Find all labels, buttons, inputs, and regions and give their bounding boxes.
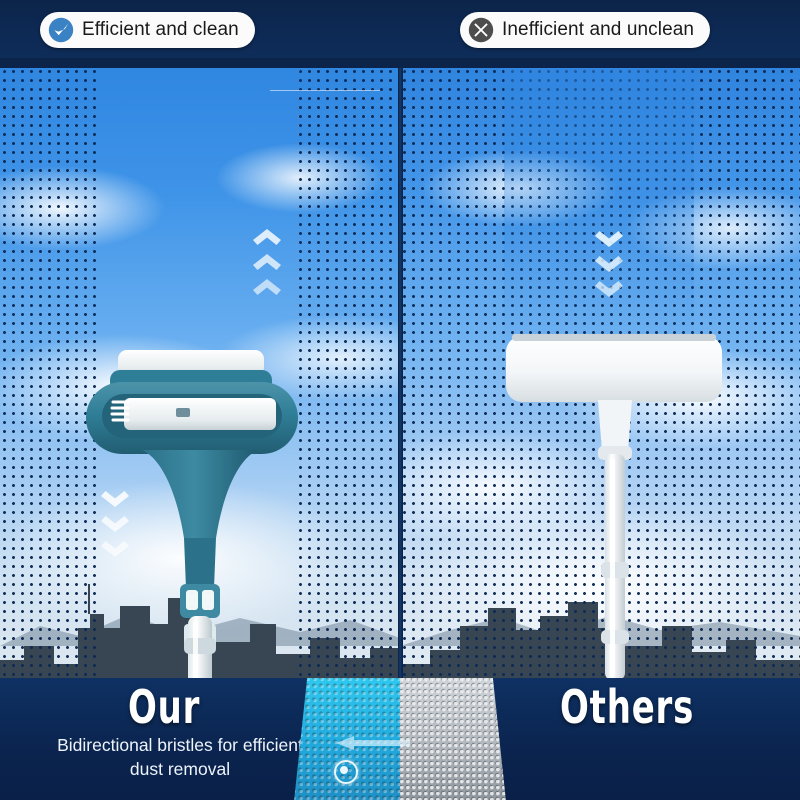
product-comparison-image: Efficient and clean Inefficient and uncl… <box>0 0 800 800</box>
chevron-up-icon <box>252 228 282 246</box>
scene-top-gutter <box>0 58 800 68</box>
chevron-down-icon <box>594 280 624 298</box>
our-screen-cleaner-tool <box>80 338 320 678</box>
badge-efficient-label: Efficient and clean <box>82 19 239 41</box>
dirt-overlay-right <box>504 58 694 358</box>
bristle-macro-inset <box>292 678 508 800</box>
caption-leader-line <box>270 90 380 91</box>
chevron-up-icon <box>252 253 282 271</box>
left-panel-our <box>0 58 400 678</box>
badge-inefficient-label: Inefficient and unclean <box>502 19 694 41</box>
callout-target-icon <box>334 760 358 784</box>
feature-caption: Bidirectional bristles for efficient dus… <box>40 734 320 781</box>
right-panel-others <box>400 58 800 678</box>
chevrons-up-left <box>252 228 282 303</box>
chevrons-down-right <box>594 230 624 305</box>
left-arrow-icon <box>332 736 412 750</box>
gray-bristles-closeup <box>400 678 508 800</box>
check-circle-icon <box>48 17 74 43</box>
comparison-scene <box>0 58 800 678</box>
our-label: Our <box>128 680 200 734</box>
badge-inefficient-and-unclean: Inefficient and unclean <box>460 12 710 48</box>
chevron-up-icon <box>252 278 282 296</box>
header-bar: Efficient and clean Inefficient and uncl… <box>0 0 800 58</box>
panel-divider <box>398 58 403 678</box>
chevron-down-icon <box>594 255 624 273</box>
others-plain-brush-tool <box>500 330 740 678</box>
x-circle-icon <box>468 17 494 43</box>
badge-efficient-and-clean: Efficient and clean <box>40 12 255 48</box>
others-label: Others <box>560 680 694 734</box>
chevron-down-icon <box>594 230 624 248</box>
